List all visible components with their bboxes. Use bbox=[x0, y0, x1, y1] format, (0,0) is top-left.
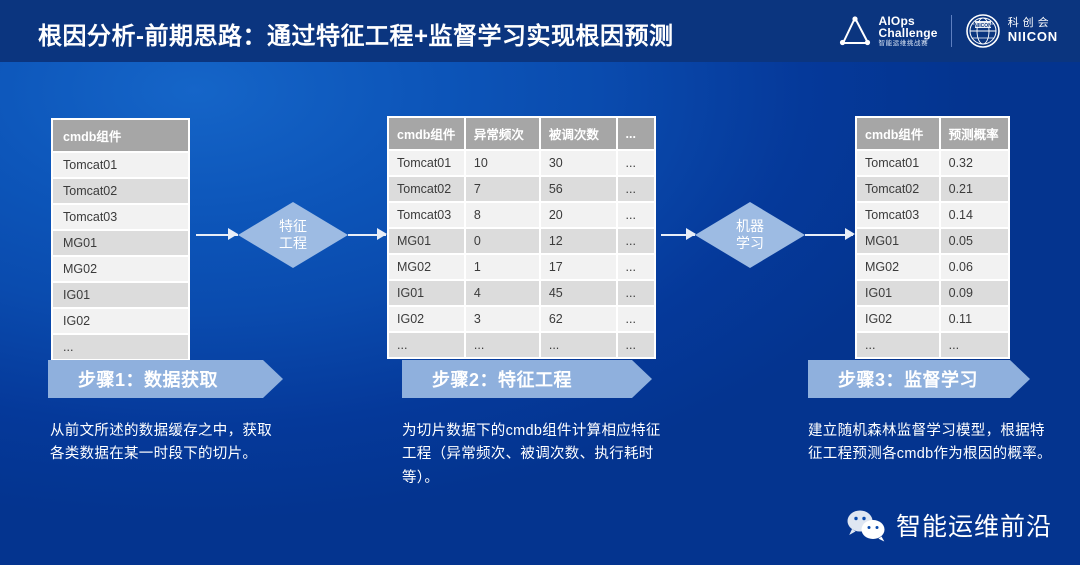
column-header: 预测概率 bbox=[940, 118, 1008, 150]
table-cell: ... bbox=[389, 332, 465, 357]
logo-divider bbox=[951, 15, 952, 47]
table-row: MG02 0.06 bbox=[857, 254, 1008, 280]
table-1-body: Tomcat01 Tomcat02 Tomcat03 MG01 MG02 IG0… bbox=[53, 152, 188, 359]
flow-node-feature-engineering: 特征 工程 bbox=[238, 202, 348, 268]
diamond1-line2: 工程 bbox=[279, 235, 307, 253]
table-row: Tomcat01 bbox=[53, 152, 188, 178]
table-cell: 0.06 bbox=[940, 254, 1008, 280]
flow-arrow-head-icon bbox=[845, 228, 855, 240]
column-header: cmdb组件 bbox=[53, 120, 188, 152]
table-cell: Tomcat03 bbox=[389, 202, 465, 228]
table-row: Tomcat03 bbox=[53, 204, 188, 230]
table-cell: MG01 bbox=[857, 228, 940, 254]
table-cell: 0.11 bbox=[940, 306, 1008, 332]
column-header: 异常频次 bbox=[465, 118, 540, 150]
table-row: MG01 0 12 ... bbox=[389, 228, 654, 254]
step-banner-2: 步骤2：特征工程 bbox=[402, 360, 652, 398]
slide-canvas: 根因分析-前期思路：通过特征工程+监督学习实现根因预测 AIOps Challe… bbox=[0, 0, 1080, 565]
table-cell: ... bbox=[617, 176, 654, 202]
table-cell: IG01 bbox=[389, 280, 465, 306]
flow-arrow-head-icon bbox=[377, 228, 387, 240]
table-cell: ... bbox=[465, 332, 540, 357]
flow-node-machine-learning: 机器 学习 bbox=[695, 202, 805, 268]
table-cell: 0 bbox=[465, 228, 540, 254]
table-cmdb-components: cmdb组件 Tomcat01 Tomcat02 Tomcat03 MG01 M… bbox=[51, 118, 190, 361]
table-cell: 0.05 bbox=[940, 228, 1008, 254]
table-cell: IG01 bbox=[857, 280, 940, 306]
table-row: MG01 0.05 bbox=[857, 228, 1008, 254]
table-row: IG01 0.09 bbox=[857, 280, 1008, 306]
aiops-challenge-logo: AIOps Challenge 智能运维挑战赛 bbox=[838, 14, 938, 48]
wechat-icon bbox=[846, 509, 886, 542]
step-description-2: 为切片数据下的cmdb组件计算相应特征工程（异常频次、被调次数、执行耗时等）。 bbox=[402, 420, 664, 490]
wechat-account-badge: 智能运维前沿 bbox=[846, 507, 1052, 543]
table-cell: Tomcat02 bbox=[53, 178, 188, 204]
table-cell: ... bbox=[617, 228, 654, 254]
table-feature-metrics: cmdb组件 异常频次 被调次数 ... Tomcat01 10 30 ... … bbox=[387, 116, 656, 359]
diamond1-line1: 特征 bbox=[279, 218, 307, 236]
table-cell: Tomcat01 bbox=[389, 150, 465, 176]
table-cell: 30 bbox=[540, 150, 617, 176]
table-row: Tomcat02 0.21 bbox=[857, 176, 1008, 202]
table-row: ... bbox=[53, 334, 188, 359]
table-cell: 62 bbox=[540, 306, 617, 332]
flow-arrow-head-icon bbox=[686, 228, 696, 240]
aiops-logo-line3: 智能运维挑战赛 bbox=[879, 41, 938, 48]
table-cell: ... bbox=[540, 332, 617, 357]
table-2-body: Tomcat01 10 30 ... Tomcat02 7 56 ... Tom… bbox=[389, 150, 654, 357]
table-cell: 7 bbox=[465, 176, 540, 202]
table-cell: MG02 bbox=[389, 254, 465, 280]
table-cell: 3 bbox=[465, 306, 540, 332]
table-cell: ... bbox=[617, 280, 654, 306]
table-cell: 0.32 bbox=[940, 150, 1008, 176]
column-header: cmdb组件 bbox=[389, 118, 465, 150]
column-header: ... bbox=[617, 118, 654, 150]
table-row: IG01 4 45 ... bbox=[389, 280, 654, 306]
table-cell: MG02 bbox=[857, 254, 940, 280]
table-cell: IG02 bbox=[389, 306, 465, 332]
table-cell: ... bbox=[857, 332, 940, 357]
table-cell: Tomcat02 bbox=[857, 176, 940, 202]
diamond2-line1: 机器 bbox=[736, 218, 764, 236]
table-cell: ... bbox=[53, 334, 188, 359]
diamond2-line2: 学习 bbox=[736, 235, 764, 253]
table-header-row: cmdb组件 异常频次 被调次数 ... bbox=[389, 118, 654, 150]
table-cell: IG02 bbox=[857, 306, 940, 332]
svg-text:NIICON: NIICON bbox=[974, 23, 992, 29]
step-banner-3: 步骤3：监督学习 bbox=[808, 360, 1030, 398]
table-3: cmdb组件 预测概率 Tomcat01 0.32 Tomcat02 0.21 … bbox=[857, 118, 1008, 357]
table-cell: MG01 bbox=[389, 228, 465, 254]
flow-arrow-head-icon bbox=[228, 228, 238, 240]
step-banner-1-label: 步骤1：数据获取 bbox=[48, 366, 218, 392]
aiops-logo-line2: Challenge bbox=[879, 27, 938, 39]
table-cell: ... bbox=[617, 202, 654, 228]
table-row: MG02 1 17 ... bbox=[389, 254, 654, 280]
wechat-account-label: 智能运维前沿 bbox=[896, 507, 1052, 543]
table-3-body: Tomcat01 0.32 Tomcat02 0.21 Tomcat03 0.1… bbox=[857, 150, 1008, 357]
table-row: IG02 bbox=[53, 308, 188, 334]
table-cell: IG01 bbox=[53, 282, 188, 308]
table-cell: ... bbox=[617, 254, 654, 280]
table-cell: 0.09 bbox=[940, 280, 1008, 306]
table-row: ... ... bbox=[857, 332, 1008, 357]
table-3-head: cmdb组件 预测概率 bbox=[857, 118, 1008, 150]
table-row: ... ... ... ... bbox=[389, 332, 654, 357]
slide-header: 根因分析-前期思路：通过特征工程+监督学习实现根因预测 AIOps Challe… bbox=[0, 0, 1080, 62]
step-banner-3-label: 步骤3：监督学习 bbox=[808, 366, 978, 392]
table-row: Tomcat01 10 30 ... bbox=[389, 150, 654, 176]
table-cell: 10 bbox=[465, 150, 540, 176]
table-cell: 12 bbox=[540, 228, 617, 254]
niicon-seal-icon: NIICON bbox=[965, 13, 1001, 49]
table-row: Tomcat03 0.14 bbox=[857, 202, 1008, 228]
table-cell: ... bbox=[617, 306, 654, 332]
column-header: 被调次数 bbox=[540, 118, 617, 150]
step-description-1: 从前文所述的数据缓存之中，获取各类数据在某一时段下的切片。 bbox=[50, 420, 275, 467]
table-row: IG02 0.11 bbox=[857, 306, 1008, 332]
aiops-triangle-icon bbox=[838, 14, 872, 48]
table-row: Tomcat02 bbox=[53, 178, 188, 204]
table-cell: 0.14 bbox=[940, 202, 1008, 228]
table-cell: Tomcat01 bbox=[857, 150, 940, 176]
table-row: Tomcat03 8 20 ... bbox=[389, 202, 654, 228]
table-row: IG02 3 62 ... bbox=[389, 306, 654, 332]
table-cell: ... bbox=[617, 150, 654, 176]
niicon-logo: NIICON 科创会 NIICON bbox=[965, 13, 1058, 49]
column-header: cmdb组件 bbox=[857, 118, 940, 150]
table-cell: 8 bbox=[465, 202, 540, 228]
table-1: cmdb组件 Tomcat01 Tomcat02 Tomcat03 MG01 M… bbox=[53, 120, 188, 359]
table-2-head: cmdb组件 异常频次 被调次数 ... bbox=[389, 118, 654, 150]
table-row: MG01 bbox=[53, 230, 188, 256]
table-row: MG02 bbox=[53, 256, 188, 282]
table-cell: 45 bbox=[540, 280, 617, 306]
table-cell: ... bbox=[940, 332, 1008, 357]
table-cell: 0.21 bbox=[940, 176, 1008, 202]
table-cell: 20 bbox=[540, 202, 617, 228]
table-row: Tomcat02 7 56 ... bbox=[389, 176, 654, 202]
step-description-3: 建立随机森林监督学习模型，根据特征工程预测各cmdb作为根因的概率。 bbox=[808, 420, 1058, 467]
step-banner-1: 步骤1：数据获取 bbox=[48, 360, 283, 398]
niicon-logo-text: 科创会 NIICON bbox=[1008, 18, 1058, 43]
table-row: IG01 bbox=[53, 282, 188, 308]
aiops-logo-text: AIOps Challenge 智能运维挑战赛 bbox=[879, 15, 938, 47]
logo-group: AIOps Challenge 智能运维挑战赛 NIICON bbox=[838, 9, 1058, 53]
table-cell: ... bbox=[617, 332, 654, 357]
table-1-head: cmdb组件 bbox=[53, 120, 188, 152]
table-cell: Tomcat02 bbox=[389, 176, 465, 202]
table-cell: Tomcat01 bbox=[53, 152, 188, 178]
table-cell: MG01 bbox=[53, 230, 188, 256]
table-cell: IG02 bbox=[53, 308, 188, 334]
table-header-row: cmdb组件 预测概率 bbox=[857, 118, 1008, 150]
table-cell: 17 bbox=[540, 254, 617, 280]
table-cell: Tomcat03 bbox=[53, 204, 188, 230]
step-banner-2-label: 步骤2：特征工程 bbox=[402, 366, 572, 392]
table-cell: 56 bbox=[540, 176, 617, 202]
page-title: 根因分析-前期思路：通过特征工程+监督学习实现根因预测 bbox=[38, 16, 674, 51]
niicon-logo-en: NIICON bbox=[1008, 30, 1058, 44]
table-cell: MG02 bbox=[53, 256, 188, 282]
table-cell: 1 bbox=[465, 254, 540, 280]
table-cell: Tomcat03 bbox=[857, 202, 940, 228]
table-header-row: cmdb组件 bbox=[53, 120, 188, 152]
table-row: Tomcat01 0.32 bbox=[857, 150, 1008, 176]
table-cell: 4 bbox=[465, 280, 540, 306]
table-prediction-probability: cmdb组件 预测概率 Tomcat01 0.32 Tomcat02 0.21 … bbox=[855, 116, 1010, 359]
table-2: cmdb组件 异常频次 被调次数 ... Tomcat01 10 30 ... … bbox=[389, 118, 654, 357]
